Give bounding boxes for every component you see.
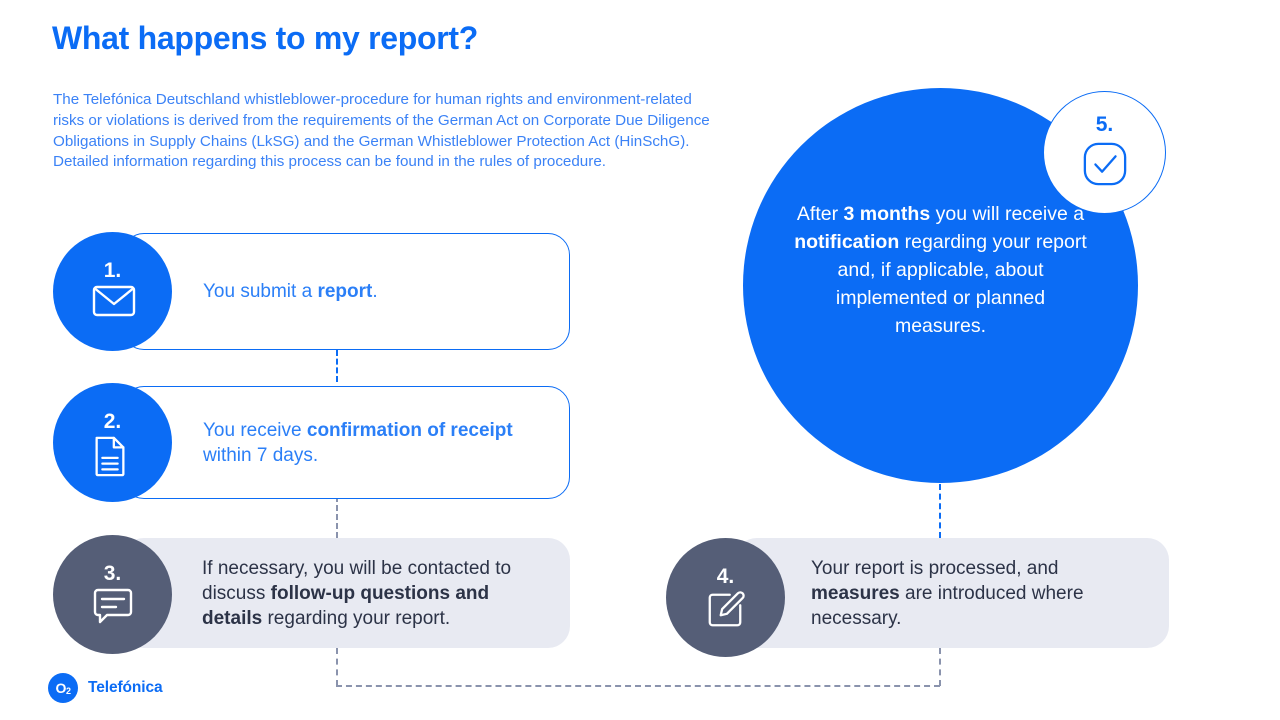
connector-bottom-horizontal (336, 685, 940, 687)
connector-step1-step2 (336, 350, 338, 382)
edit-square-icon (705, 590, 747, 630)
step-4-card[interactable]: Your report is processed, and measures a… (735, 538, 1169, 648)
step-3-text-2: regarding your report. (262, 608, 450, 629)
step-1-number: 1. (104, 260, 122, 281)
step-2-badge[interactable]: 2. (53, 383, 172, 502)
connector-up-to-step4 (939, 648, 941, 686)
connector-step3-down (336, 648, 338, 686)
step-3-badge[interactable]: 3. (53, 535, 172, 654)
envelope-icon (92, 284, 134, 324)
o2-logo-subscript: 2 (66, 686, 71, 696)
step-2-text: You receive confirmation of receipt with… (123, 418, 569, 468)
step-3-card[interactable]: If necessary, you will be contacted to d… (122, 538, 570, 648)
infographic-canvas: What happens to my report? The Telefónic… (0, 0, 1280, 720)
step-2-text-1: confirmation of receipt (307, 420, 513, 441)
step-1-text-0: You submit a (203, 281, 317, 302)
step-3-number: 3. (104, 563, 122, 584)
step-5-text-1: 3 months (844, 203, 931, 225)
step-5-text-0: After (797, 203, 844, 225)
step-4-number: 4. (717, 566, 735, 587)
step-1-text-2: . (372, 281, 377, 302)
step-2-text-0: You receive (203, 420, 307, 441)
step-2-text-2: within 7 days. (203, 445, 318, 466)
step-4-text-1: measures (811, 583, 900, 604)
step-4-text-0: Your report is processed, and (811, 558, 1059, 579)
intro-paragraph: The Telefónica Deutschland whistleblower… (53, 90, 725, 173)
page-title: What happens to my report? (52, 20, 478, 57)
check-circle-icon (1082, 141, 1128, 192)
speech-bubble-icon (92, 587, 134, 627)
step-5-text: After 3 months you will receive a notifi… (791, 200, 1091, 340)
telefonica-logo: O2 Telefónica (48, 673, 163, 703)
document-icon (92, 435, 134, 475)
step-3-text: If necessary, you will be contacted to d… (122, 556, 570, 631)
o2-logo-icon: O2 (48, 673, 78, 703)
step-4-text: Your report is processed, and measures a… (735, 556, 1169, 631)
step-5-badge[interactable]: 5. (1043, 91, 1166, 214)
step-2-card[interactable]: You receive confirmation of receipt with… (122, 386, 570, 499)
step-1-badge[interactable]: 1. (53, 232, 172, 351)
step-1-text-1: report (317, 281, 372, 302)
step-2-number: 2. (104, 411, 122, 432)
step-5-text-2: you will receive a (930, 203, 1084, 225)
connector-step2-step3 (336, 496, 338, 538)
step-5-number: 5. (1096, 114, 1114, 135)
o2-logo-letter: O (56, 680, 66, 696)
step-4-badge[interactable]: 4. (666, 538, 785, 657)
connector-step5-step4 (939, 484, 941, 538)
step-5-text-3: notification (794, 231, 899, 253)
step-1-card[interactable]: You submit a report. (122, 233, 570, 350)
logo-wordmark: Telefónica (88, 679, 163, 697)
